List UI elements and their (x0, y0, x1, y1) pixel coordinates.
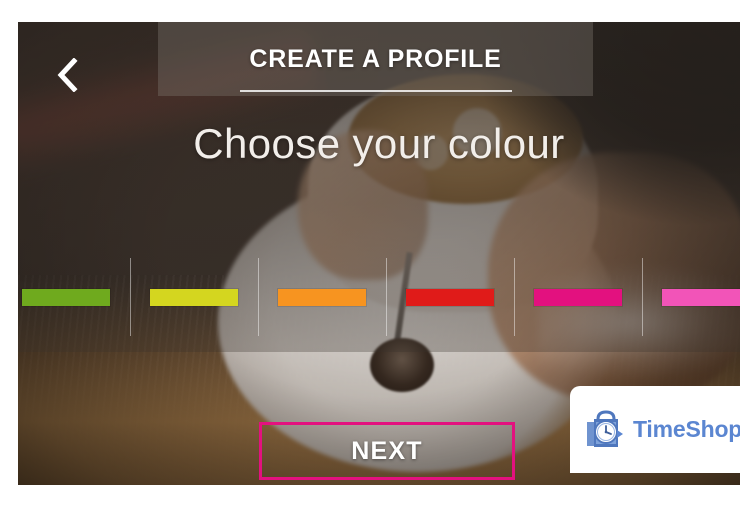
colour-swatch-red[interactable] (386, 258, 514, 336)
shopping-bag-clock-icon (584, 410, 626, 450)
swatch-fill-green (22, 289, 110, 306)
page-heading: Choose your colour (18, 120, 740, 168)
title-underline (240, 90, 512, 92)
colour-swatch-pink[interactable] (642, 258, 740, 336)
swatch-fill-pink (662, 289, 740, 306)
swatch-divider (258, 258, 259, 336)
page-title: CREATE A PROFILE (158, 22, 593, 96)
swatch-fill-yellow (150, 289, 238, 306)
colour-swatch-row (18, 258, 740, 336)
swatch-divider (386, 258, 387, 336)
colour-swatch-magenta[interactable] (514, 258, 642, 336)
colour-swatch-yellow[interactable] (130, 258, 258, 336)
watermark-brand: TimeShop (633, 416, 740, 443)
back-button[interactable] (40, 50, 94, 100)
swatch-divider (642, 258, 643, 336)
colour-swatch-green[interactable] (18, 258, 130, 336)
swatch-divider (514, 258, 515, 336)
swatch-fill-magenta (534, 289, 622, 306)
swatch-divider (130, 258, 131, 336)
next-button[interactable]: NEXT (259, 422, 515, 480)
swatch-fill-orange (278, 289, 366, 306)
swatch-fill-red (406, 289, 494, 306)
colour-swatch-orange[interactable] (258, 258, 386, 336)
timeshop-watermark: TimeShop (570, 386, 740, 473)
chevron-left-icon (56, 58, 78, 92)
app-screen: CREATE A PROFILE Choose your colour NEXT (0, 0, 740, 507)
